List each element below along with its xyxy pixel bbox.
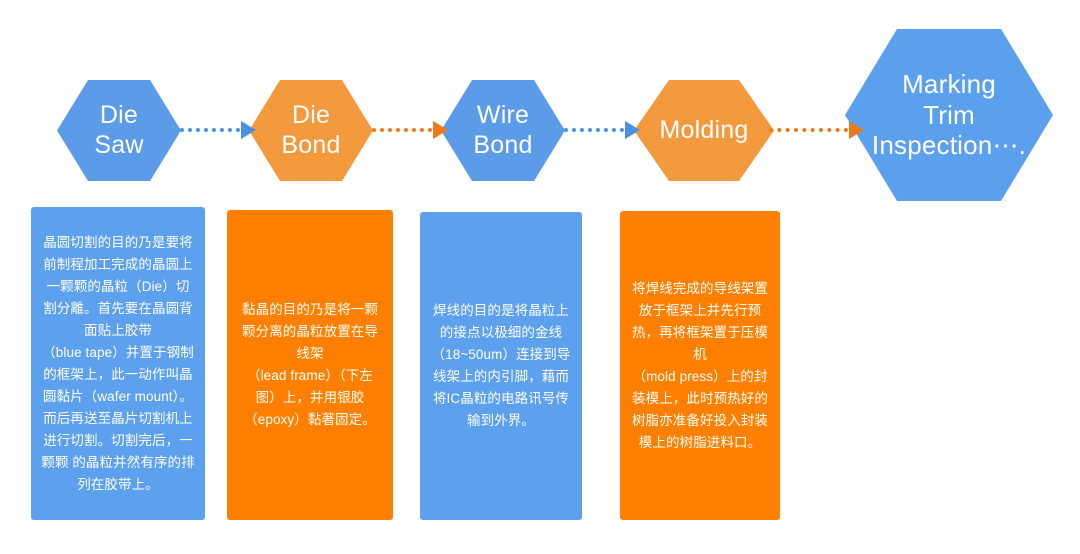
dotted-line — [769, 128, 848, 132]
description-text: 黏晶的目的乃是将一颗颗分离的晶粒放置在导线架 （lead frame）（下左图）… — [237, 299, 383, 431]
arrowhead-icon — [433, 121, 448, 139]
arrowhead-icon — [241, 121, 256, 139]
connector-wire-bond-to-molding — [564, 121, 640, 139]
dotted-line — [372, 128, 432, 132]
arrowhead-icon — [849, 121, 864, 139]
process-node-marking-trim-inspection[interactable]: Marking Trim Inspection⋯. — [845, 29, 1053, 201]
process-node-wire-bond[interactable]: Wire Bond — [441, 80, 565, 181]
description-text: 将焊线完成的导线架置放于框架上并先行预热，再将框架置于压模机 （mold pre… — [630, 278, 770, 454]
connector-die-saw-to-die-bond — [180, 121, 256, 139]
process-node-die-bond[interactable]: Die Bond — [249, 80, 373, 181]
dotted-line — [564, 128, 624, 132]
dotted-line — [180, 128, 240, 132]
arrowhead-icon — [625, 121, 640, 139]
description-box-die-saw: 晶圆切割的目的乃是要将前制程加工完成的晶圆上一颗颗的晶粒（Die）切割分離。首先… — [31, 207, 205, 520]
process-node-label: Marking Trim Inspection⋯. — [868, 69, 1030, 161]
process-flow-diagram: Die Saw Die Bond Wire Bond Molding Marki… — [0, 0, 1080, 554]
process-node-die-saw[interactable]: Die Saw — [57, 80, 181, 181]
process-node-molding[interactable]: Molding — [634, 80, 774, 181]
process-node-label: Wire Bond — [469, 101, 536, 160]
description-text: 焊线的目的是将晶粒上的接点以极细的金线（18~50um）连接到导线架上的内引脚，… — [430, 300, 572, 432]
process-node-label: Molding — [656, 116, 753, 146]
description-box-die-bond: 黏晶的目的乃是将一颗颗分离的晶粒放置在导线架 （lead frame）（下左图）… — [227, 210, 393, 520]
description-box-wire-bond: 焊线的目的是将晶粒上的接点以极细的金线（18~50um）连接到导线架上的内引脚，… — [420, 212, 582, 520]
description-box-molding: 将焊线完成的导线架置放于框架上并先行预热，再将框架置于压模机 （mold pre… — [620, 211, 780, 520]
description-text: 晶圆切割的目的乃是要将前制程加工完成的晶圆上一颗颗的晶粒（Die）切割分離。首先… — [41, 232, 195, 496]
connector-die-bond-to-wire-bond — [372, 121, 448, 139]
process-node-label: Die Saw — [90, 101, 147, 160]
process-node-label: Die Bond — [277, 101, 344, 160]
connector-molding-to-marking — [769, 121, 864, 139]
